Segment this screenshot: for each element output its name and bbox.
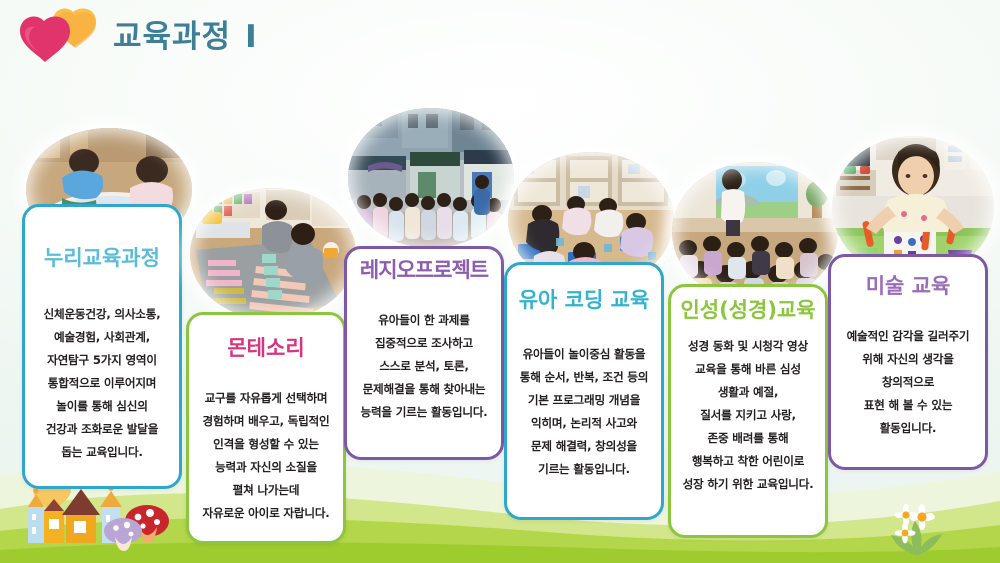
card-line: 교육을 통해 바른 심성	[679, 358, 817, 381]
card-montessori[interactable]: 몬테소리 교구를 자유롭게 선택하며 경험하며 배우고, 독립적인 인격을 형성…	[186, 312, 346, 544]
card-line: 문제해결을 통해 찾아내는	[355, 378, 493, 401]
card-line: 교구를 자유롭게 선택하며	[197, 387, 335, 410]
card-line: 유아들이 놀이중심 활동을	[515, 343, 653, 366]
double-heart-icon	[14, 6, 106, 64]
card-line: 표현 해 볼 수 있는	[839, 394, 977, 417]
card-line: 능력과 자신의 소질을	[197, 456, 335, 479]
card-line: 돕는 교육입니다.	[33, 441, 171, 464]
photo-soft-edge	[190, 188, 356, 320]
card-line: 행복하고 착한 어린이로	[679, 450, 817, 473]
card-character[interactable]: 인성(성경)교육 성경 동화 및 시청각 영상 교육을 통해 바른 심성 생활과…	[668, 284, 828, 538]
card-line: 자유로운 아이로 자랍니다.	[197, 502, 335, 525]
card-line: 놀이를 통해 심신의	[33, 395, 171, 418]
card-title-nuri: 누리교육과정	[25, 247, 179, 269]
photo-soft-edge	[348, 108, 514, 248]
card-line: 창의적으로	[839, 371, 977, 394]
card-line: 질서를 지키고 사랑,	[679, 404, 817, 427]
card-line: 능력을 기르는 활동입니다.	[355, 401, 493, 424]
card-body-reggio: 유아들이 한 과제를 집중적으로 조사하고 스스로 분석, 토론, 문제해결을 …	[355, 309, 493, 424]
card-title-reggio: 레지오프로젝트	[347, 259, 501, 281]
card-line: 신체운동건강, 의사소통,	[33, 303, 171, 326]
card-line: 성장 하기 위한 교육입니다.	[679, 473, 817, 496]
card-line: 기본 프로그래밍 개념을	[515, 389, 653, 412]
card-line: 펼쳐 나가는데	[197, 479, 335, 502]
card-body-coding: 유아들이 놀이중심 활동을 통해 순서, 반복, 조건 등의 기본 프로그래밍 …	[515, 343, 653, 481]
card-line: 예술적인 감각을 길러주기	[839, 325, 977, 348]
card-body-art: 예술적인 감각을 길러주기 위해 자신의 생각을 창의적으로 표현 해 볼 수 …	[839, 325, 977, 440]
card-line: 유아들이 한 과제를	[355, 309, 493, 332]
card-line: 성경 동화 및 시청각 영상	[679, 335, 817, 358]
card-line: 통합적으로 이루어지며	[33, 372, 171, 395]
page-title: 교육과정Ⅰ	[113, 11, 257, 56]
card-line: 문제 해결력, 창의성을	[515, 435, 653, 458]
page-title-numeral: Ⅰ	[245, 19, 257, 55]
card-line: 스스로 분석, 토론,	[355, 355, 493, 378]
card-line: 기르는 활동입니다.	[515, 458, 653, 481]
daisy-flowers-icon	[878, 495, 952, 557]
card-title-character: 인성(성경)교육	[671, 299, 825, 321]
card-line: 활동입니다.	[839, 417, 977, 440]
card-line: 집중적으로 조사하고	[355, 332, 493, 355]
card-line: 인격을 형성할 수 있는	[197, 433, 335, 456]
card-body-montessori: 교구를 자유롭게 선택하며 경험하며 배우고, 독립적인 인격을 형성할 수 있…	[197, 387, 335, 525]
card-line: 건강과 조화로운 발달을	[33, 418, 171, 441]
photo-soft-edge	[672, 162, 838, 302]
card-nuri[interactable]: 누리교육과정 신체운동건강, 의사소통, 예술경험, 사회관계, 자연탐구 5가…	[22, 204, 182, 489]
card-line: 경험하며 배우고, 독립적인	[197, 410, 335, 433]
card-photo-montessori	[190, 188, 356, 320]
page-title-text: 교육과정	[113, 19, 231, 55]
card-body-character: 성경 동화 및 시청각 영상 교육을 통해 바른 심성 생활과 예절, 질서를 …	[679, 335, 817, 496]
card-line: 통해 순서, 반복, 조건 등의	[515, 366, 653, 389]
card-reggio[interactable]: 레지오프로젝트 유아들이 한 과제를 집중적으로 조사하고 스스로 분석, 토론…	[344, 246, 504, 460]
card-body-nuri: 신체운동건강, 의사소통, 예술경험, 사회관계, 자연탐구 5가지 영역이 통…	[33, 303, 171, 464]
slide-canvas: 교육과정Ⅰ	[0, 0, 1000, 563]
card-line: 생활과 예절,	[679, 381, 817, 404]
card-title-montessori: 몬테소리	[189, 337, 343, 359]
card-title-art: 미술 교육	[831, 275, 985, 297]
card-coding[interactable]: 유아 코딩 교육 유아들이 놀이중심 활동을 통해 순서, 반복, 조건 등의 …	[504, 262, 664, 520]
card-art[interactable]: 미술 교육 예술적인 감각을 길러주기 위해 자신의 생각을 창의적으로 표현 …	[828, 254, 988, 470]
card-line: 위해 자신의 생각을	[839, 348, 977, 371]
card-line: 존중 배려를 통해	[679, 427, 817, 450]
slide-header: 교육과정Ⅰ	[0, 0, 1000, 78]
card-photo-reggio	[348, 108, 514, 248]
card-photo-character	[672, 162, 838, 302]
card-title-coding: 유아 코딩 교육	[507, 289, 661, 311]
card-line: 예술경험, 사회관계,	[33, 326, 171, 349]
card-line: 자연탐구 5가지 영역이	[33, 349, 171, 372]
card-line: 익히며, 논리적 사고와	[515, 412, 653, 435]
